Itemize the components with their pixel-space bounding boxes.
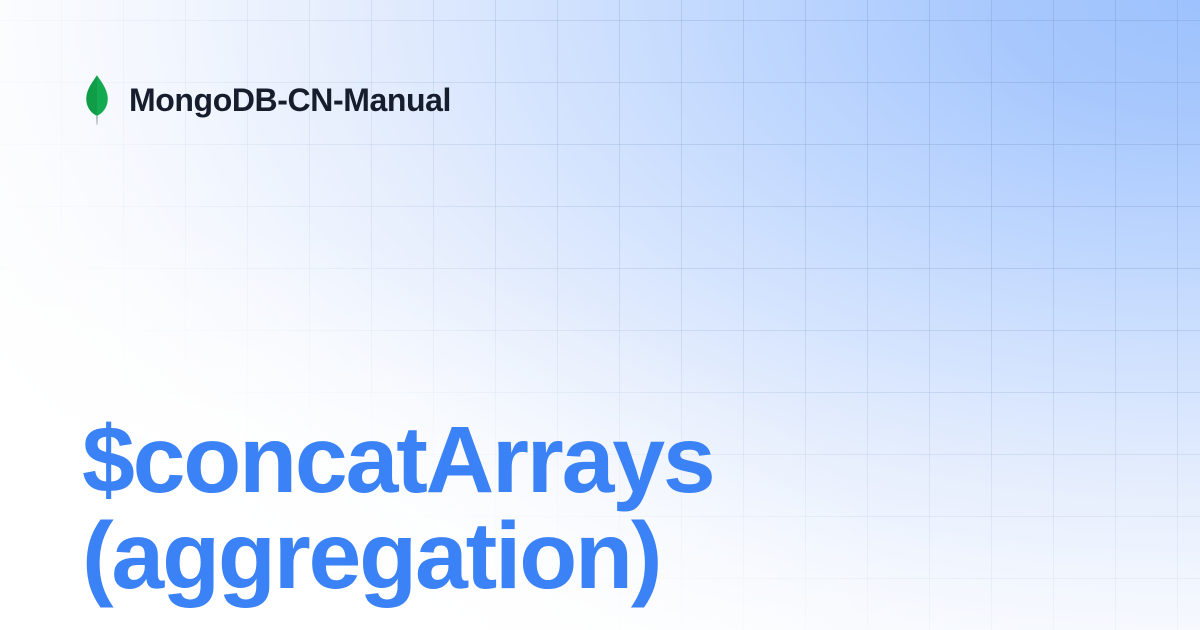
social-share-card: MongoDB-CN-Manual $concatArrays (aggrega… xyxy=(0,0,1200,630)
page-title: $concatArrays (aggregation) xyxy=(82,412,1082,604)
brand-header: MongoDB-CN-Manual xyxy=(84,74,451,126)
page-title-line-2: (aggregation) xyxy=(82,508,1082,604)
mongodb-leaf-icon xyxy=(84,74,110,126)
brand-name-text: MongoDB-CN-Manual xyxy=(129,84,451,116)
page-title-line-1: $concatArrays xyxy=(82,412,1082,508)
